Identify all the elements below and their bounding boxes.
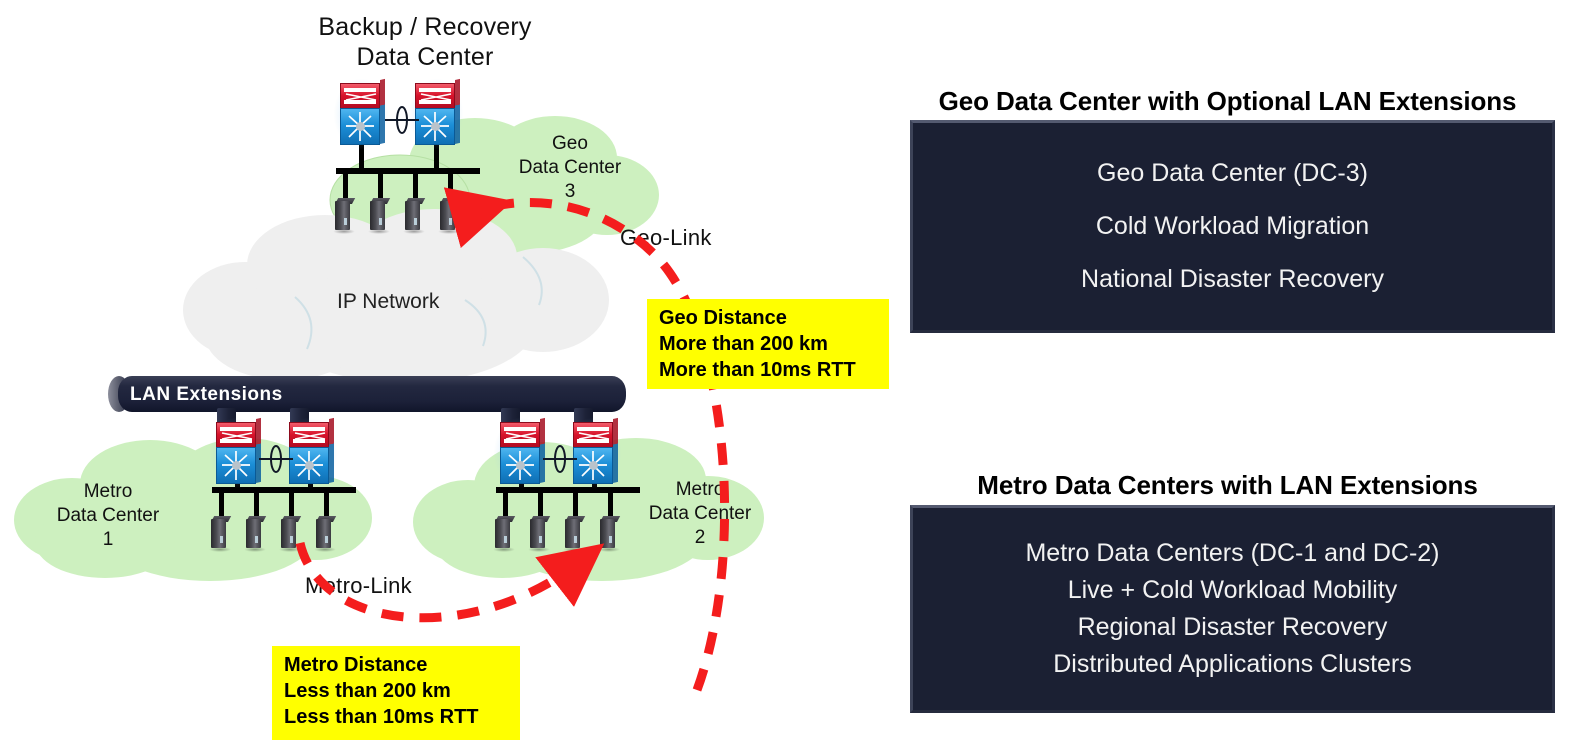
server-geo-4 (440, 198, 458, 230)
switch-icon (289, 447, 329, 484)
router-icon (500, 422, 540, 448)
interlink-dc1 (259, 444, 293, 479)
router-icon (289, 422, 329, 448)
panel-box-geo: Geo Data Center (DC-3) Cold Workload Mig… (910, 120, 1555, 333)
switch-icon (573, 447, 613, 484)
switch-icon (340, 108, 380, 145)
metro-link-label: Metro-Link (305, 573, 412, 599)
downlink-geo-3 (413, 172, 418, 200)
panel-title-metro: Metro Data Centers with LAN Extensions (885, 470, 1570, 501)
downlink-dc2-3 (573, 490, 578, 518)
network-device-dc2-1 (498, 422, 544, 484)
network-device-dc2-2 (571, 422, 617, 484)
downlink-geo-2 (378, 172, 383, 200)
backup-recovery-title: Backup / Recovery Data Center (280, 12, 570, 72)
router-icon (340, 83, 380, 109)
switch-icon (500, 447, 540, 484)
server-dc1-1 (211, 516, 229, 548)
callout-geo-distance: Geo Distance More than 200 km More than … (647, 299, 889, 389)
server-dc2-1 (495, 516, 513, 548)
panel-box-metro: Metro Data Centers (DC-1 and DC-2) Live … (910, 505, 1555, 713)
downlink-dc2-2 (538, 490, 543, 518)
cloud-label-geo-dc3: Geo Data Center 3 (495, 132, 645, 204)
device-side-face (613, 418, 618, 483)
downlink-dc2-4 (608, 490, 613, 518)
server-dc1-4 (316, 516, 334, 548)
downlink-dc1-1 (219, 490, 224, 518)
downlink-dc1-2 (254, 490, 259, 518)
downlink-geo-1 (343, 172, 348, 200)
downlink-dc1-3 (289, 490, 294, 518)
network-device-geo-2 (413, 83, 459, 145)
interlink-geo (385, 105, 419, 140)
panel-geo-line-3: National Disaster Recovery (1081, 265, 1384, 294)
panel-metro-line-3: Regional Disaster Recovery (1078, 613, 1388, 642)
downlink-dc1-4 (324, 490, 329, 518)
network-device-dc1-2 (287, 422, 333, 484)
cloud-label-metro-dc1: Metro Data Center 1 (28, 480, 188, 552)
interlink-dc2 (543, 444, 577, 479)
server-dc2-4 (600, 516, 618, 548)
router-icon (216, 422, 256, 448)
geo-link-label: Geo-Link (620, 225, 712, 251)
server-dc1-2 (246, 516, 264, 548)
router-icon (573, 422, 613, 448)
panel-metro-line-2: Live + Cold Workload Mobility (1068, 576, 1398, 605)
network-device-dc1-1 (214, 422, 260, 484)
server-geo-2 (370, 198, 388, 230)
bus-geo-dc3 (336, 168, 480, 174)
panel-metro-line-4: Distributed Applications Clusters (1053, 650, 1412, 679)
panel-metro-line-1: Metro Data Centers (DC-1 and DC-2) (1025, 539, 1439, 568)
callout-metro-distance: Metro Distance Less than 200 km Less tha… (272, 646, 520, 740)
server-dc2-3 (565, 516, 583, 548)
server-dc1-3 (281, 516, 299, 548)
switch-icon (216, 447, 256, 484)
ip-network-label: IP Network (337, 290, 439, 314)
downlink-dc2-1 (503, 490, 508, 518)
network-device-geo-1 (338, 83, 384, 145)
lan-extensions-label: LAN Extensions (130, 384, 283, 406)
panel-geo-line-2: Cold Workload Migration (1096, 212, 1369, 241)
server-geo-1 (335, 198, 353, 230)
panel-title-geo: Geo Data Center with Optional LAN Extens… (885, 86, 1570, 117)
device-side-face (455, 79, 460, 144)
cloud-label-metro-dc2: Metro Data Center 2 (620, 478, 780, 550)
panel-geo-line-1: Geo Data Center (DC-3) (1097, 159, 1368, 188)
router-icon (415, 83, 455, 109)
server-dc2-2 (530, 516, 548, 548)
device-side-face (329, 418, 334, 483)
downlink-geo-4 (448, 172, 453, 200)
server-geo-3 (405, 198, 423, 230)
switch-icon (415, 108, 455, 145)
